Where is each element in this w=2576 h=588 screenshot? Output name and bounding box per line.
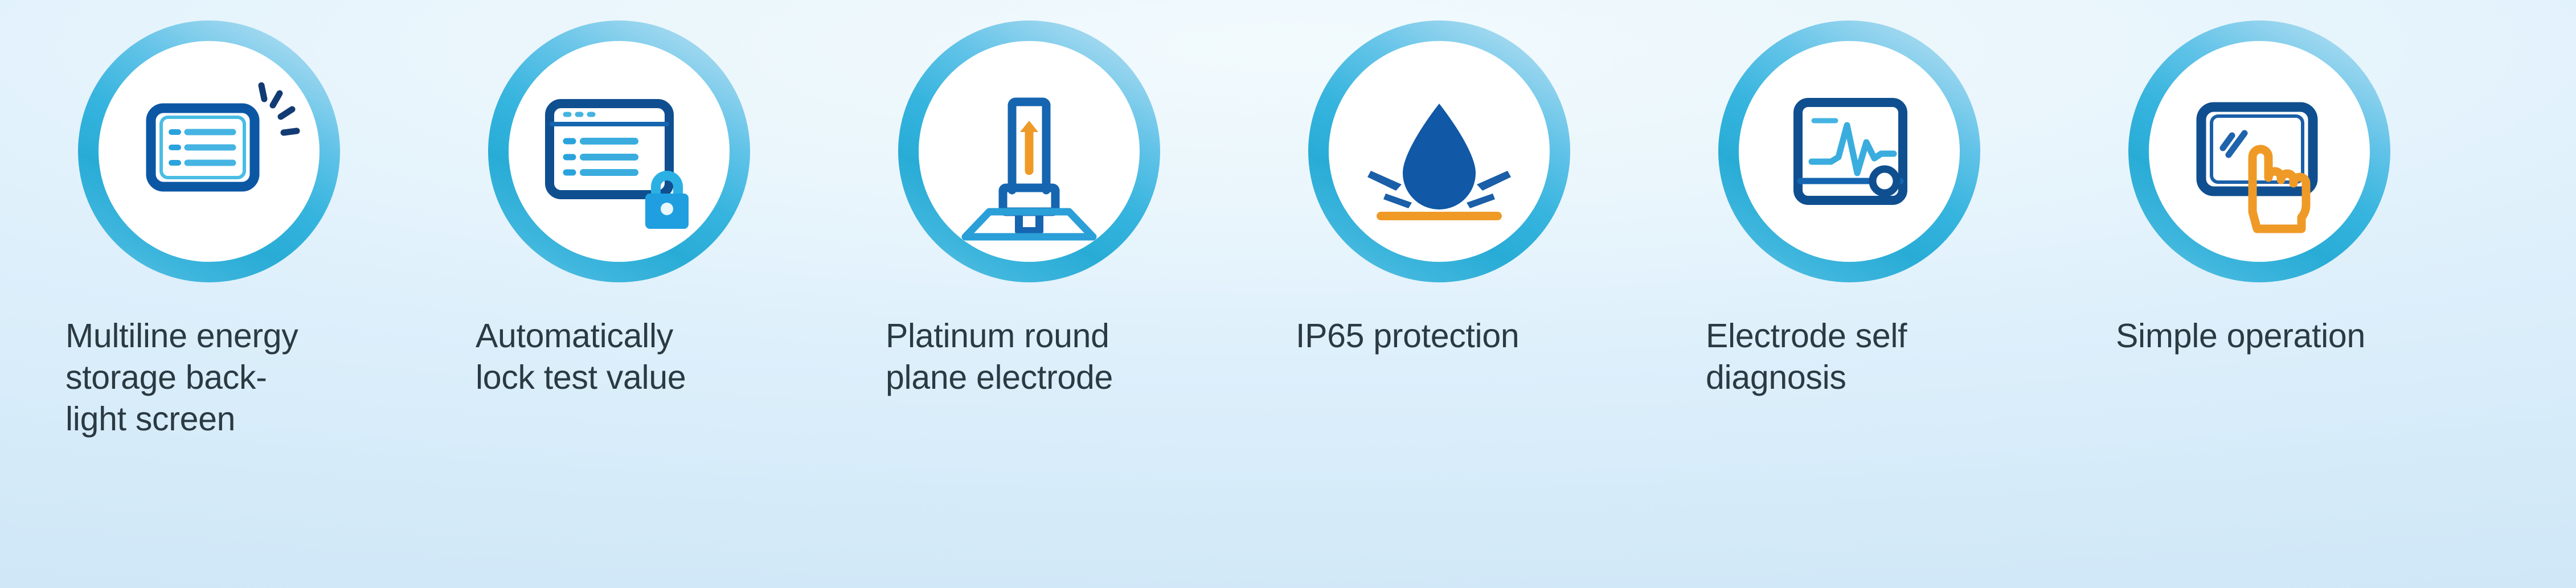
- feature-item-simple-operation[interactable]: Simple operation: [2116, 20, 2526, 357]
- waveform-monitor-icon: [1739, 41, 1960, 262]
- feature-label: Automatically lock test value: [476, 315, 686, 398]
- feature-badge: [1718, 20, 1980, 282]
- locked-window-icon: [509, 41, 730, 262]
- waterproof-droplet-icon: [1329, 41, 1550, 262]
- feature-item-self-diagnosis[interactable]: Electrode self diagnosis: [1706, 20, 2116, 398]
- feature-list: Multiline energy storage back- light scr…: [0, 0, 2576, 588]
- feature-item-backlight-screen[interactable]: Multiline energy storage back- light scr…: [65, 20, 476, 440]
- feature-label: IP65 protection: [1296, 315, 1519, 357]
- backlight-screen-icon: [99, 41, 320, 262]
- feature-label: Simple operation: [2116, 315, 2365, 357]
- feature-banner: Multiline energy storage back- light scr…: [0, 0, 2576, 588]
- feature-item-platinum-electrode[interactable]: Platinum round plane electrode: [886, 20, 1296, 398]
- feature-badge: [2128, 20, 2390, 282]
- feature-badge: [1308, 20, 1570, 282]
- feature-item-ip65-protection[interactable]: IP65 protection: [1296, 20, 1706, 357]
- platinum-electrode-icon: [919, 41, 1140, 262]
- touchscreen-hand-icon: [2149, 41, 2370, 262]
- feature-badge: [898, 20, 1160, 282]
- feature-badge: [78, 20, 340, 282]
- feature-label: Multiline energy storage back- light scr…: [65, 315, 298, 440]
- lock-glyph: [645, 171, 689, 229]
- feature-label: Electrode self diagnosis: [1706, 315, 1907, 398]
- feature-item-lock-test-value[interactable]: Automatically lock test value: [476, 20, 886, 398]
- feature-label: Platinum round plane electrode: [886, 315, 1113, 398]
- feature-badge: [488, 20, 750, 282]
